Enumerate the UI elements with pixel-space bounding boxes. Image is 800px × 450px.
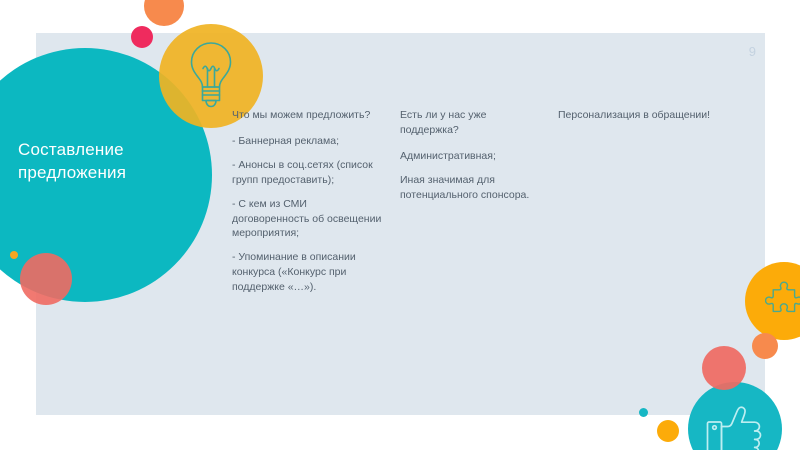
- column-heading: Что мы можем предложить?: [232, 108, 382, 123]
- column-do-we-have-support: Есть ли у нас уже поддержка? Администрат…: [400, 108, 558, 203]
- list-item: - Упоминание в описании конкурса («Конку…: [232, 250, 382, 295]
- decorative-circle-pink-top: [131, 26, 153, 48]
- decorative-circle-orange-top: [144, 0, 184, 26]
- decorative-dot-yellow-left: [10, 251, 18, 259]
- text-columns: Что мы можем предложить? - Баннерная рек…: [232, 108, 752, 295]
- decorative-circle-red-thumb: [702, 346, 746, 390]
- page-title: Составление предложения: [18, 138, 208, 185]
- column-personalization: Персонализация в обращении!: [558, 108, 728, 123]
- column-what-we-can-offer: Что мы можем предложить? - Баннерная рек…: [232, 108, 400, 295]
- list-item: - С кем из СМИ договоренность об освещен…: [232, 197, 382, 242]
- decorative-circle-orange-small: [752, 333, 778, 359]
- column-heading: Есть ли у нас уже поддержка?: [400, 108, 540, 138]
- column-heading: Персонализация в обращении!: [558, 108, 728, 123]
- list-item: - Анонсы в соц.сетях (список групп предо…: [232, 158, 382, 188]
- decorative-circle-red-left: [20, 253, 72, 305]
- page-number: 9: [749, 44, 756, 59]
- list-item: - Баннерная реклама;: [232, 134, 382, 149]
- list-item: Иная значимая для потенциального спонсор…: [400, 173, 540, 203]
- list-item: Административная;: [400, 149, 540, 164]
- slide-canvas: Составление предложения 9 Что мы можем п…: [0, 0, 800, 450]
- decorative-dot-yellow-bottom: [657, 420, 679, 442]
- decorative-dot-teal-bottom: [639, 408, 648, 417]
